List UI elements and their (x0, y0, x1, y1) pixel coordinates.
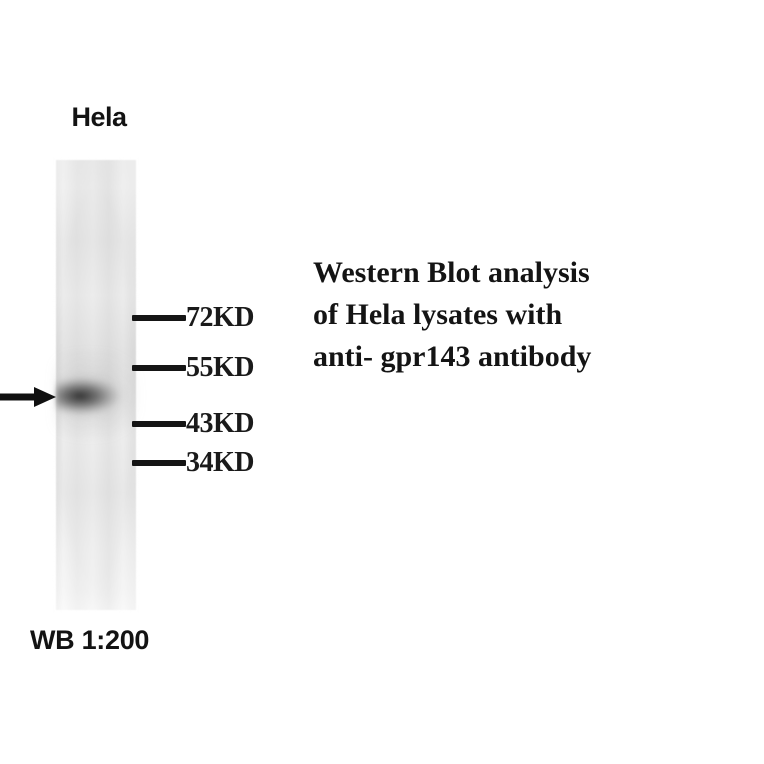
marker-label-55kd: 55KD (186, 354, 254, 382)
marker-43kd: 43KD (132, 409, 254, 439)
caption-line-2: of Hela lysates with (313, 294, 703, 336)
caption-line-3: anti- gpr143 antibody (313, 336, 703, 378)
marker-72kd: 72KD (132, 303, 254, 333)
dilution-label: WB 1:200 (30, 627, 149, 654)
marker-tick-55kd (132, 365, 186, 371)
caption-line-1: Western Blot analysis (313, 252, 703, 294)
marker-tick-72kd (132, 315, 186, 321)
marker-tick-43kd (132, 421, 186, 427)
marker-55kd: 55KD (132, 353, 254, 383)
marker-label-43kd: 43KD (186, 410, 254, 438)
marker-34kd: 34KD (132, 448, 254, 478)
marker-tick-34kd (132, 460, 186, 466)
western-blot-figure: Hela 72KD 55KD 43KD 34KD WB 1:200 Wester… (0, 0, 764, 764)
figure-caption: Western Blot analysis of Hela lysates wi… (313, 252, 703, 378)
lane-label-hela: Hela (54, 104, 144, 131)
marker-label-34kd: 34KD (186, 449, 254, 477)
blot-lane-strip (56, 160, 136, 610)
marker-label-72kd: 72KD (186, 304, 254, 332)
band-pointer-arrow (0, 385, 58, 409)
